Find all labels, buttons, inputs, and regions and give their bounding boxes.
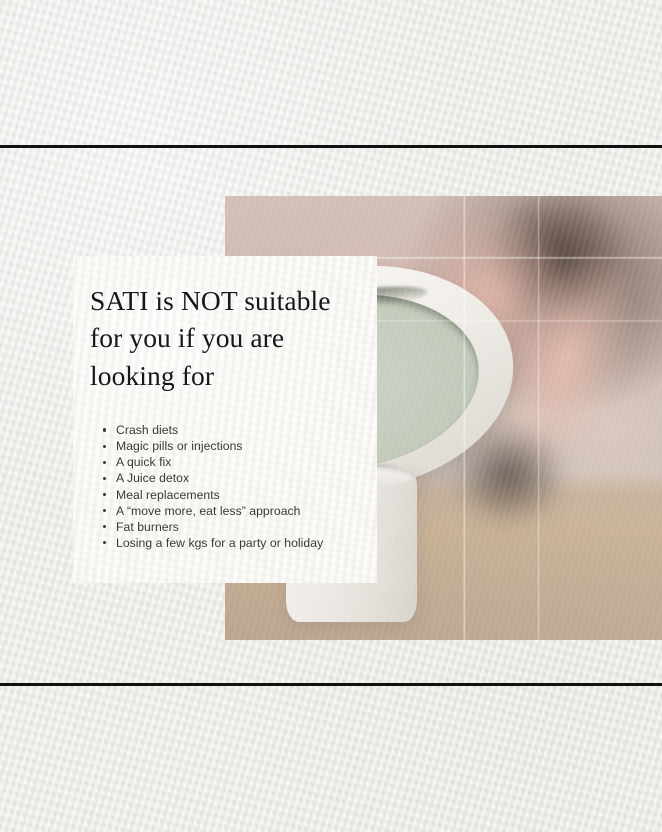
list-item: A quick fix [116, 454, 355, 470]
list-item: A “move more, eat less” approach [116, 503, 355, 519]
list-item: Fat burners [116, 519, 355, 535]
list-item: Losing a few kgs for a party or holiday [116, 535, 355, 551]
bottom-divider-rule [0, 683, 662, 686]
content-card: SATI is NOT suitable for you if you are … [73, 256, 377, 583]
list-item: Magic pills or injections [116, 438, 355, 454]
exclusion-list: Crash diets Magic pills or injections A … [89, 422, 355, 551]
top-divider-rule [0, 145, 662, 148]
list-item: Meal replacements [116, 487, 355, 503]
list-item: A Juice detox [116, 470, 355, 486]
list-item: Crash diets [116, 422, 355, 438]
card-heading: SATI is NOT suitable for you if you are … [89, 282, 355, 394]
slide: SATI is NOT suitable for you if you are … [0, 0, 662, 832]
